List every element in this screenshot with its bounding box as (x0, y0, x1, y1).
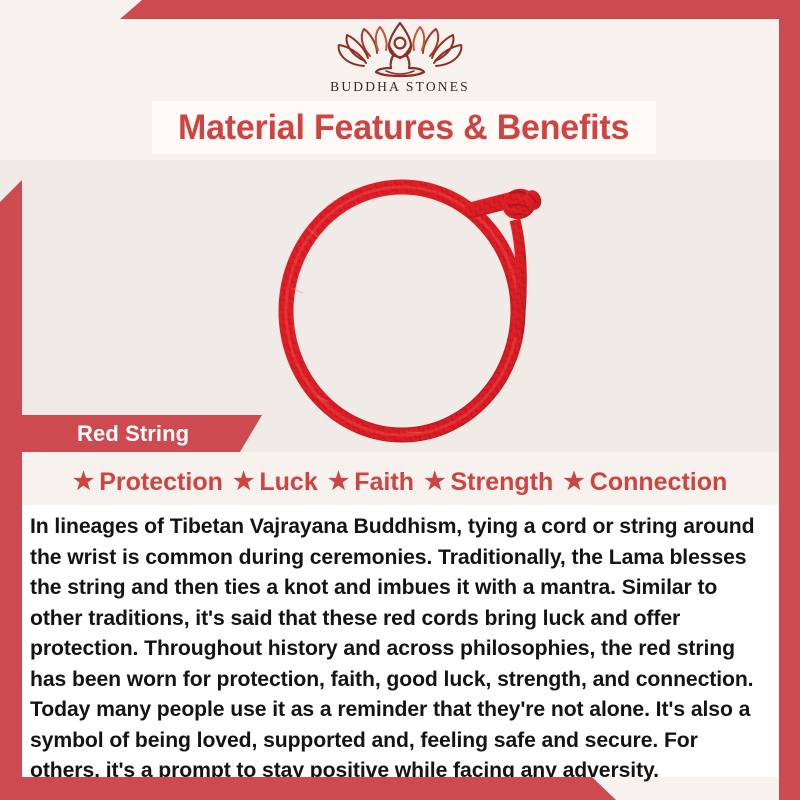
benefit-item-strength: ★ Strength (424, 468, 553, 497)
benefit-item-faith: ★ Faith (328, 468, 414, 497)
benefit-item-protection: ★ Protection (73, 468, 223, 497)
brand-header: BUDDHA STONES (0, 19, 800, 100)
star-icon: ★ (424, 470, 446, 494)
benefit-label: Connection (590, 468, 728, 497)
page-title: Material Features & Benefits (178, 108, 629, 148)
benefit-label: Faith (354, 468, 414, 497)
infographic-card: BUDDHA STONES Material Features & Benefi… (0, 0, 800, 800)
benefit-label: Protection (99, 468, 223, 497)
star-icon: ★ (328, 470, 350, 494)
product-name-ribbon: Red String (22, 415, 262, 452)
description-body: In lineages of Tibetan Vajrayana Buddhis… (30, 511, 757, 786)
benefit-item-luck: ★ Luck (233, 468, 318, 497)
benefit-item-connection: ★ Connection (563, 468, 727, 497)
product-name: Red String (22, 421, 189, 447)
right-red-bar-decoration (779, 0, 800, 800)
star-icon: ★ (73, 470, 95, 494)
brand-wordmark: BUDDHA STONES (330, 79, 470, 95)
star-icon: ★ (233, 470, 255, 494)
lotus-meditation-figure-icon (334, 19, 466, 78)
left-red-bar-decoration (0, 150, 22, 800)
star-icon: ★ (563, 470, 585, 494)
top-red-band-decoration (0, 0, 800, 19)
product-photo (0, 160, 779, 452)
red-string-bracelet-image (247, 168, 577, 448)
title-banner: Material Features & Benefits (152, 101, 656, 154)
benefits-list: ★ Protection ★ Luck ★ Faith ★ Strength ★… (22, 460, 778, 504)
description-panel: In lineages of Tibetan Vajrayana Buddhis… (22, 505, 778, 777)
benefit-label: Luck (259, 468, 317, 497)
benefit-label: Strength (450, 468, 553, 497)
